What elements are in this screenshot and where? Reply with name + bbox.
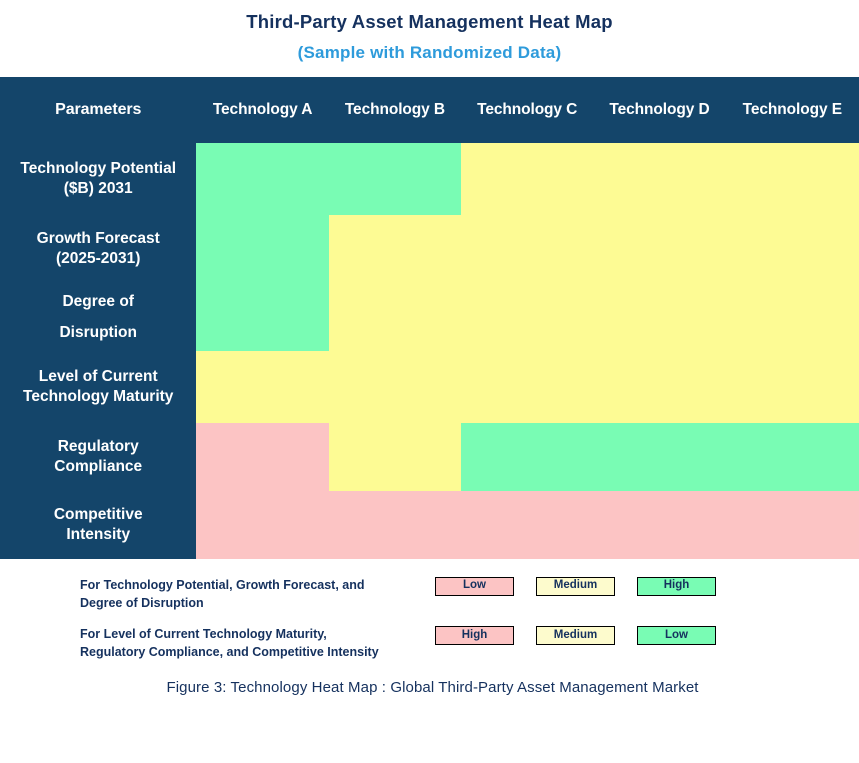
legend-swatch-low-2: Low	[637, 626, 716, 645]
heat-cell-r1-c2[interactable]	[329, 143, 461, 215]
title-block: Third-Party Asset Management Heat Map (S…	[0, 0, 859, 64]
heatmap-page: Third-Party Asset Management Heat Map (S…	[0, 0, 859, 763]
figure-caption: Figure 3: Technology Heat Map : Global T…	[0, 679, 859, 696]
row-label-line1: Technology Potential	[20, 160, 176, 177]
table-row: Growth Forecast (2025-2031)	[0, 215, 859, 283]
heat-cell-r6-c2[interactable]	[329, 491, 461, 559]
legend-row-1: For Technology Potential, Growth Forecas…	[80, 575, 859, 612]
heat-cell-r6-c5[interactable]	[726, 491, 859, 559]
heat-cell-r2-c3[interactable]	[461, 215, 593, 283]
heat-cell-r3-c1[interactable]	[196, 283, 328, 351]
column-header-technology-c: Technology C	[461, 77, 593, 143]
heat-cell-r3-c3[interactable]	[461, 283, 593, 351]
table-header-row: Parameters Technology A Technology B Tec…	[0, 77, 859, 143]
heat-cell-r5-c5[interactable]	[726, 423, 859, 491]
heat-cell-r4-c2[interactable]	[329, 351, 461, 423]
row-label-line1: Growth Forecast	[37, 230, 160, 247]
legend-swatch-low-1: Low	[435, 577, 514, 596]
heat-cell-r1-c5[interactable]	[726, 143, 859, 215]
row-label-line2: Compliance	[54, 458, 142, 475]
heat-cell-r3-c2[interactable]	[329, 283, 461, 351]
page-title: Third-Party Asset Management Heat Map	[0, 11, 859, 33]
table-row: Technology Potential ($B) 2031	[0, 143, 859, 215]
row-label-line1: Competitive	[54, 506, 143, 523]
heat-cell-r3-c4[interactable]	[593, 283, 725, 351]
legend-swatch-medium-1: Medium	[536, 577, 615, 596]
legend: For Technology Potential, Growth Forecas…	[0, 575, 859, 662]
heat-cell-r5-c1[interactable]	[196, 423, 328, 491]
row-label-line2: Disruption	[59, 324, 137, 341]
legend-swatch-medium-2: Medium	[536, 626, 615, 645]
heat-cell-r2-c2[interactable]	[329, 215, 461, 283]
column-header-technology-b: Technology B	[329, 77, 461, 143]
heat-cell-r6-c4[interactable]	[593, 491, 725, 559]
row-label-line2: ($B) 2031	[64, 180, 133, 197]
heat-cell-r4-c1[interactable]	[196, 351, 328, 423]
heatmap-table: Parameters Technology A Technology B Tec…	[0, 77, 859, 559]
row-label-line1: Level of Current	[39, 368, 158, 385]
table-row: Degree of Disruption	[0, 283, 859, 351]
column-header-technology-d: Technology D	[593, 77, 725, 143]
heat-cell-r6-c3[interactable]	[461, 491, 593, 559]
column-header-technology-a: Technology A	[196, 77, 328, 143]
row-label-competitive-intensity: Competitive Intensity	[0, 491, 196, 559]
heat-cell-r5-c3[interactable]	[461, 423, 593, 491]
legend-swatches-1: Low Medium High	[435, 575, 716, 596]
heat-cell-r2-c5[interactable]	[726, 215, 859, 283]
row-label-technology-maturity: Level of Current Technology Maturity	[0, 351, 196, 423]
legend-description-1-line1: For Technology Potential, Growth Forecas…	[80, 578, 365, 592]
heat-cell-r3-c5[interactable]	[726, 283, 859, 351]
heat-cell-r1-c1[interactable]	[196, 143, 328, 215]
row-label-technology-potential: Technology Potential ($B) 2031	[0, 143, 196, 215]
legend-swatch-high-1: High	[637, 577, 716, 596]
table-row: Level of Current Technology Maturity	[0, 351, 859, 423]
row-label-regulatory-compliance: Regulatory Compliance	[0, 423, 196, 491]
heat-cell-r2-c4[interactable]	[593, 215, 725, 283]
row-label-growth-forecast: Growth Forecast (2025-2031)	[0, 215, 196, 283]
heat-cell-r4-c4[interactable]	[593, 351, 725, 423]
legend-row-2: For Level of Current Technology Maturity…	[80, 624, 859, 661]
heat-cell-r2-c1[interactable]	[196, 215, 328, 283]
heat-cell-r1-c3[interactable]	[461, 143, 593, 215]
heat-cell-r5-c2[interactable]	[329, 423, 461, 491]
row-label-degree-of-disruption: Degree of Disruption	[0, 283, 196, 351]
row-label-line1: Degree of	[62, 293, 134, 310]
column-header-parameters: Parameters	[0, 77, 196, 143]
legend-description-2: For Level of Current Technology Maturity…	[80, 624, 435, 661]
heat-cell-r4-c5[interactable]	[726, 351, 859, 423]
legend-description-1: For Technology Potential, Growth Forecas…	[80, 575, 435, 612]
table-row: Regulatory Compliance	[0, 423, 859, 491]
legend-swatch-high-2: High	[435, 626, 514, 645]
row-label-line2: Intensity	[66, 526, 130, 543]
heat-cell-r1-c4[interactable]	[593, 143, 725, 215]
legend-swatches-2: High Medium Low	[435, 624, 716, 645]
legend-description-2-line2: Regulatory Compliance, and Competitive I…	[80, 645, 379, 659]
legend-description-2-line1: For Level of Current Technology Maturity…	[80, 627, 327, 641]
page-subtitle: (Sample with Randomized Data)	[0, 43, 859, 63]
heat-cell-r6-c1[interactable]	[196, 491, 328, 559]
column-header-technology-e: Technology E	[726, 77, 859, 143]
table-row: Competitive Intensity	[0, 491, 859, 559]
row-label-line2: Technology Maturity	[23, 388, 173, 405]
row-label-line1: Regulatory	[58, 438, 139, 455]
legend-description-1-line2: Degree of Disruption	[80, 596, 204, 610]
heat-cell-r5-c4[interactable]	[593, 423, 725, 491]
heat-cell-r4-c3[interactable]	[461, 351, 593, 423]
row-label-line2: (2025-2031)	[56, 250, 140, 267]
